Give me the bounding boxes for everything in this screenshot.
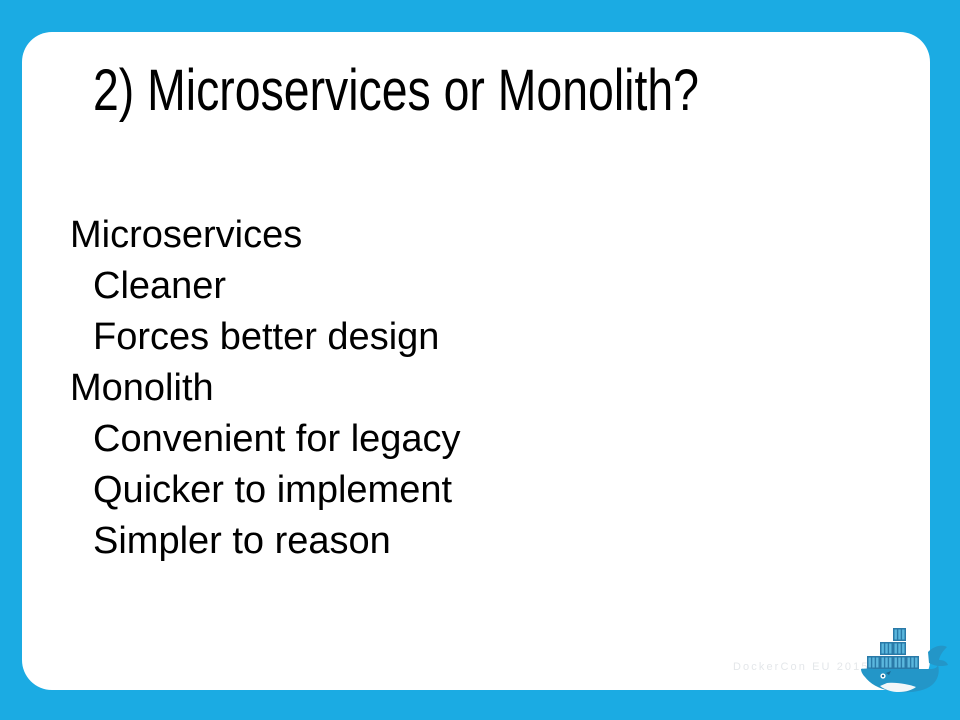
bullet-list: Microservices Cleaner Forces better desi… — [70, 210, 870, 567]
footer-credit: DockerCon EU 2015 — [733, 660, 870, 674]
list-item: Forces better design — [70, 312, 870, 363]
slide-frame: 2) Microservices or Monolith? Microservi… — [0, 0, 960, 720]
list-item: Microservices — [70, 210, 870, 261]
slide-card: 2) Microservices or Monolith? Microservi… — [22, 32, 930, 690]
list-item: Simpler to reason — [70, 516, 870, 567]
list-item: Cleaner — [70, 261, 870, 312]
list-item: Monolith — [70, 363, 870, 414]
docker-whale-icon — [858, 624, 950, 696]
list-item: Convenient for legacy — [70, 414, 870, 465]
list-item: Quicker to implement — [70, 465, 870, 516]
page-title: 2) Microservices or Monolith? — [93, 60, 699, 122]
